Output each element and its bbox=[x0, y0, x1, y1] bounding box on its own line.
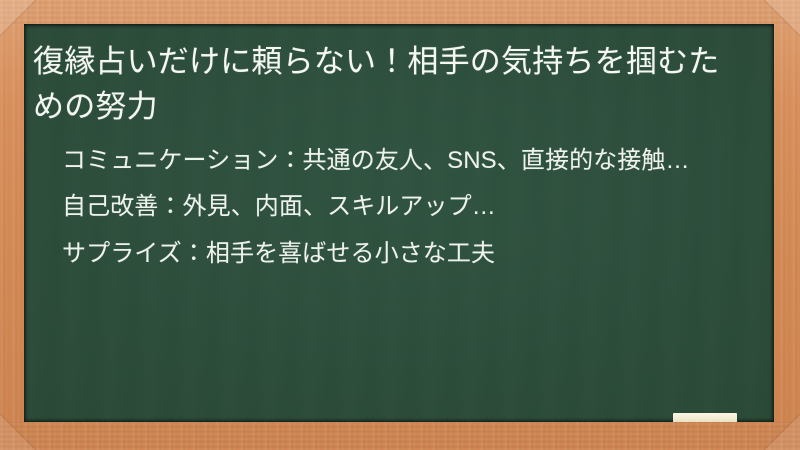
board-point-item: サプライズ：相手を喜ばせる小さな工夫 bbox=[62, 237, 722, 272]
board-content: 復縁占いだけに頼らない！相手の気持ちを掴むための努力 コミュニケーション：共通の… bbox=[33, 26, 762, 422]
board-surface: 復縁占いだけに頼らない！相手の気持ちを掴むための努力 コミュニケーション：共通の… bbox=[24, 24, 774, 422]
board-title: 復縁占いだけに頼らない！相手の気持ちを掴むための努力 bbox=[33, 26, 759, 130]
chalk-stick-icon bbox=[673, 413, 737, 422]
board-point-item: 自己改善：外見、内面、スキルアップ… bbox=[62, 190, 722, 225]
board-point-item: コミュニケーション：共通の友人、SNS、直接的な接触… bbox=[62, 144, 722, 179]
chalkboard-card: 復縁占いだけに頼らない！相手の気持ちを掴むための努力 コミュニケーション：共通の… bbox=[0, 0, 800, 450]
board-point-list: コミュニケーション：共通の友人、SNS、直接的な接触… 自己改善：外見、内面、ス… bbox=[33, 130, 762, 272]
